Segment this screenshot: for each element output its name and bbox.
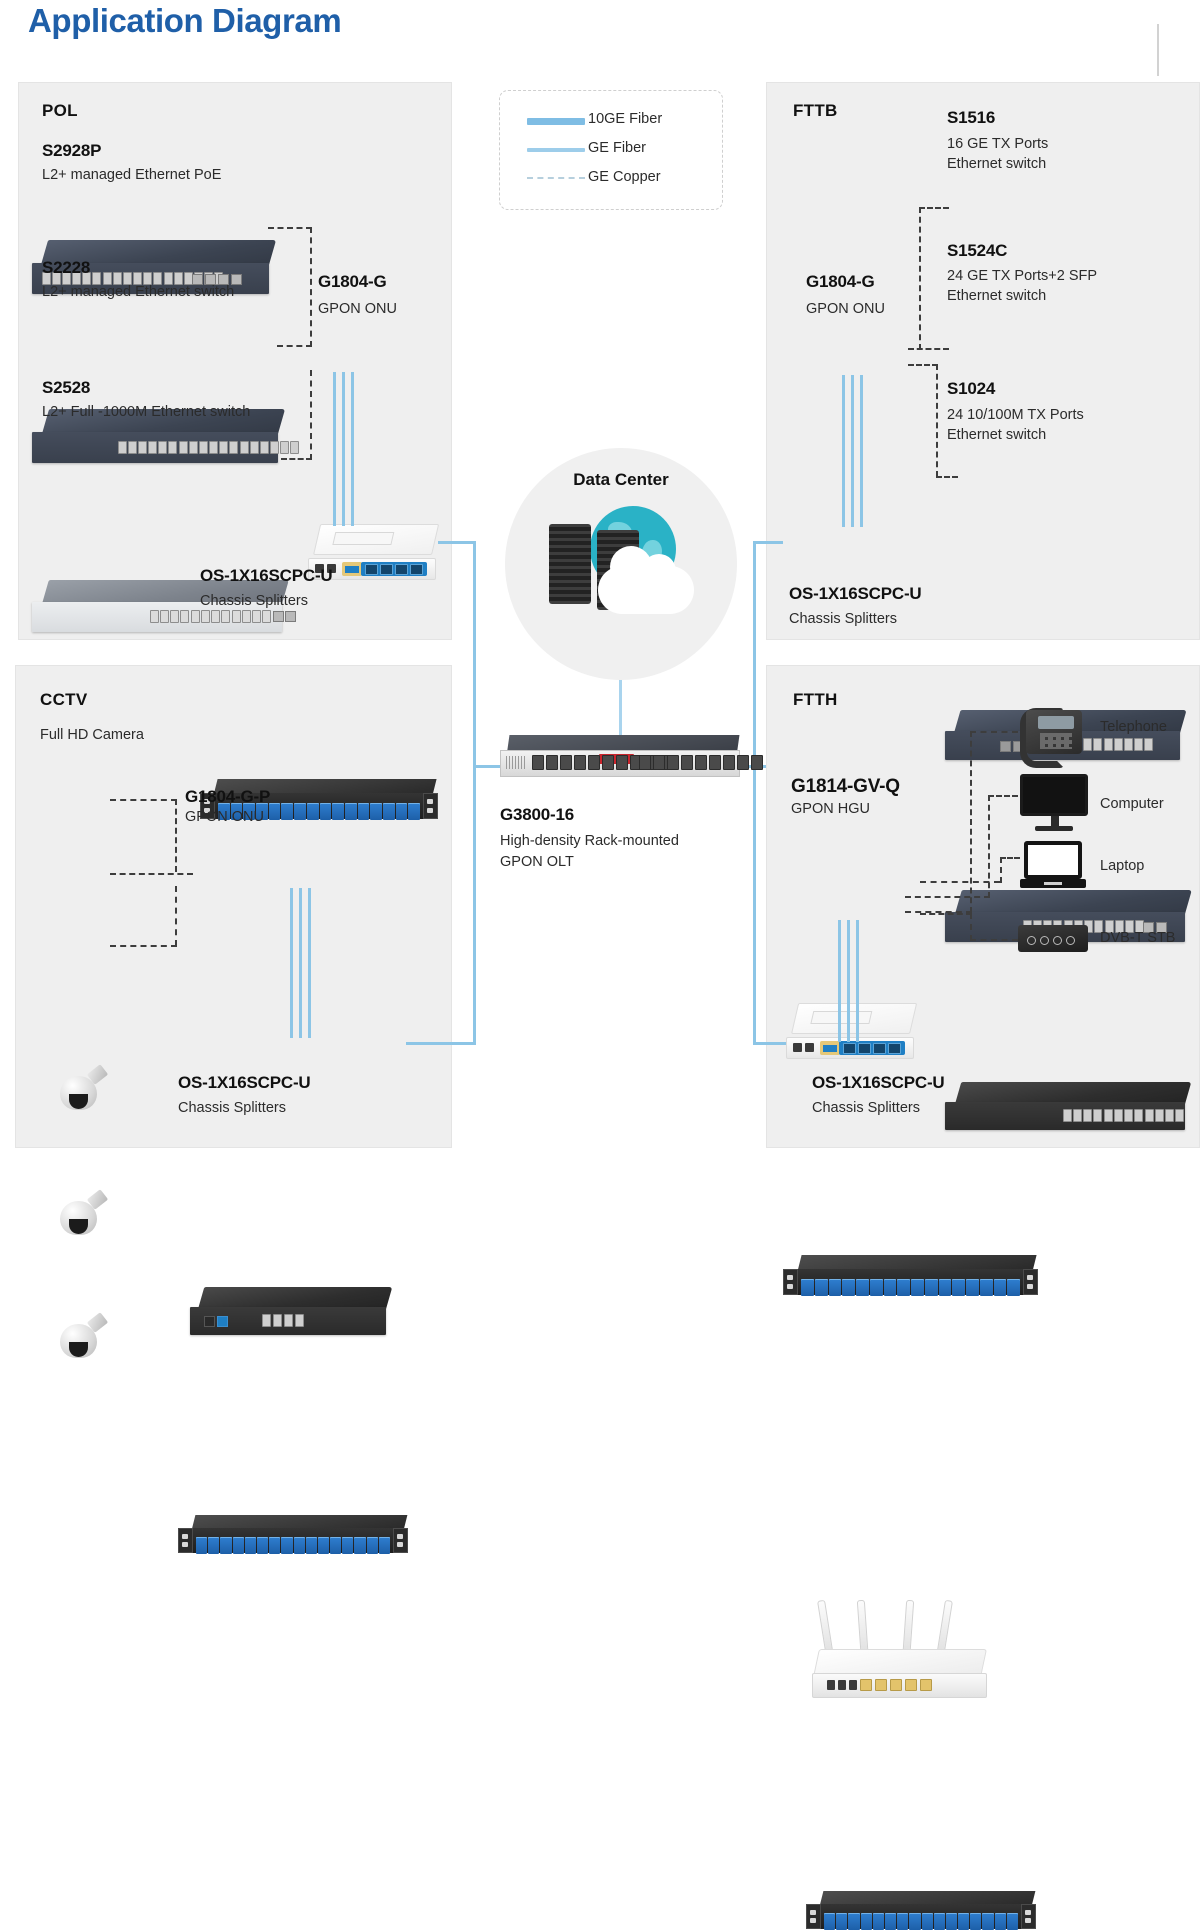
fiber-left-trunk-lower [473,765,476,1045]
fttb-switch-1-desc1: 24 GE TX Ports+2 SFP [947,267,1097,286]
title-divider [1157,24,1159,76]
device-g3800-16-olt [500,735,740,777]
copper-ftth-hgu-out-2 [905,896,990,898]
legend-swatch-ge-fiber [527,148,585,152]
cctv-onu-desc: GPON ONU [185,808,264,827]
set-top-box-icon [1018,925,1088,952]
copper-fttb-onu-out-upper [908,348,949,350]
pol-splitter-model: OS-1X16SCPC-U [200,566,333,586]
datacenter-title: Data Center [505,470,737,490]
copper-cctv-cam3 [110,945,177,947]
fttb-switch-1-desc2: Ethernet switch [947,287,1046,306]
fttb-onu-desc: GPON ONU [806,300,885,319]
device-splitter-fttb [783,1255,1038,1295]
fiber-ftth-drop-3 [856,920,859,1042]
copper-ftth-computer [988,795,1018,797]
fttb-switch-2-model: S1024 [947,379,995,399]
ftth-splitter-desc: Chassis Splitters [812,1099,920,1118]
fiber-fttb-drop-3 [860,375,863,527]
fiber-fttb-drop-1 [842,375,845,527]
copper-ftth-hgu-out-4 [920,913,972,915]
camera-icon-3 [60,1316,110,1364]
olt-desc-line1: High-density Rack-mounted [500,832,679,851]
panel-title-cctv: CCTV [40,690,87,710]
copper-cctv-cam1 [110,799,177,801]
device-g1804-g-onu-fttb [786,1003,914,1059]
fiber-left-trunk [473,541,476,767]
pol-switch-2-model: S2528 [42,378,90,398]
legend-label-10ge-fiber: 10GE Fiber [588,111,662,127]
pol-splitter-desc: Chassis Splitters [200,592,308,611]
copper-cctv-bus-upper [175,799,177,872]
copper-ftth-telephone [970,731,1018,733]
copper-pol-bus-upper [310,227,312,347]
fiber-fttb-drop-2 [851,375,854,527]
fttb-splitter-desc: Chassis Splitters [789,610,897,629]
fiber-pol-drop-3 [351,372,354,526]
copper-fttb-bus-upper [919,207,921,350]
pol-switch-0-model: S2928P [42,141,101,161]
cctv-camera-label: Full HD Camera [40,727,144,743]
telephone-icon [1020,706,1082,758]
pol-switch-0-desc: L2+ managed Ethernet PoE [42,166,221,185]
copper-ftth-stb [970,939,1018,941]
fttb-switch-2-desc1: 24 10/100M TX Ports [947,406,1084,425]
camera-icon-2 [60,1193,110,1241]
copper-ftth-bus-1 [970,731,972,913]
pol-onu-desc: GPON ONU [318,300,397,319]
legend-box: 10GE Fiber GE Fiber GE Copper [499,90,723,210]
fiber-cctv-splitter-out [406,1042,476,1045]
device-splitter-cctv [178,1515,408,1553]
device-s1024 [945,1082,1185,1130]
panel-title-fttb: FTTB [793,101,838,121]
fttb-switch-0-desc2: Ethernet switch [947,155,1046,174]
copper-fttb-onu-out-lower [908,364,938,366]
fttb-switch-0-model: S1516 [947,108,995,128]
copper-pol-s2528 [281,458,312,460]
pol-switch-1-desc: L2+ managed Ethernet switch [42,283,234,302]
fttb-onu-model: G1804-G [806,272,875,292]
copper-fttb-bus-lower [936,364,938,477]
ftth-hgu-model: G1814-GV-Q [791,776,900,798]
copper-ftth-hgu-out-3 [920,881,1000,883]
fiber-right-trunk [753,541,756,1045]
legend-swatch-10ge-fiber [527,118,585,125]
legend-swatch-ge-copper [527,177,585,179]
ftth-client-0-label: Telephone [1100,719,1167,735]
pol-switch-1-model: S2228 [42,258,90,278]
pol-onu-model: G1804-G [318,272,387,292]
pol-switch-2-desc: L2+ Full -1000M Ethernet switch [42,403,250,422]
fiber-ftth-drop-2 [847,920,850,1042]
copper-ftth-bus-4 [970,913,972,941]
copper-pol-bus-lower [310,370,312,460]
fiber-cctv-drop-1 [290,888,293,1038]
fttb-switch-2-desc2: Ethernet switch [947,426,1046,445]
ftth-client-1-label: Computer [1100,796,1164,812]
device-g1814-gv-q-hgu [812,1606,987,1698]
monitor-icon [1020,774,1088,832]
copper-fttb-s1516 [919,207,949,209]
fttb-switch-1-model: S1524C [947,241,1007,261]
copper-cctv-cam2 [110,873,193,875]
copper-pol-s2228 [277,345,312,347]
fttb-switch-0-desc1: 16 GE TX Ports [947,135,1048,154]
server-rack-icon [549,524,591,604]
copper-ftth-bus-3 [1000,857,1002,883]
device-g1804-g-p-onu [190,1287,386,1335]
device-splitter-ftth [806,1891,1036,1929]
fiber-fttb-splitter-in [753,541,783,544]
copper-ftth-laptop [1000,857,1020,859]
ftth-client-3-label: DVB-T STB [1100,930,1175,946]
copper-cctv-bus-lower [175,886,177,946]
legend-label-ge-copper: GE Copper [588,169,661,185]
fttb-splitter-model: OS-1X16SCPC-U [789,584,922,604]
copper-fttb-s1024 [936,476,958,478]
panel-title-ftth: FTTH [793,690,838,710]
olt-desc-line2: GPON OLT [500,853,574,872]
laptop-icon [1020,841,1086,889]
olt-model-label: G3800-16 [500,805,574,825]
fiber-pol-drop-1 [333,372,336,526]
fiber-cctv-drop-2 [299,888,302,1038]
cctv-onu-model: G1804-G-P [185,787,270,807]
ftth-client-2-label: Laptop [1100,858,1144,874]
ftth-splitter-model: OS-1X16SCPC-U [812,1073,945,1093]
fiber-trunk-to-olt-left [473,765,501,768]
fiber-pol-splitter-out [438,541,476,544]
legend-label-ge-fiber: GE Fiber [588,140,646,156]
copper-pol-s2928p [268,227,312,229]
panel-title-pol: POL [42,101,78,121]
fiber-ftth-drop-1 [838,920,841,1042]
fiber-cctv-drop-3 [308,888,311,1038]
fiber-pol-drop-2 [342,372,345,526]
ftth-hgu-desc: GPON HGU [791,800,870,819]
cctv-splitter-model: OS-1X16SCPC-U [178,1073,311,1093]
cloud-icon [598,566,694,614]
cctv-splitter-desc: Chassis Splitters [178,1099,286,1118]
datacenter-node: Data Center [505,448,737,680]
camera-icon-1 [60,1068,110,1116]
page-title: Application Diagram [28,2,341,40]
